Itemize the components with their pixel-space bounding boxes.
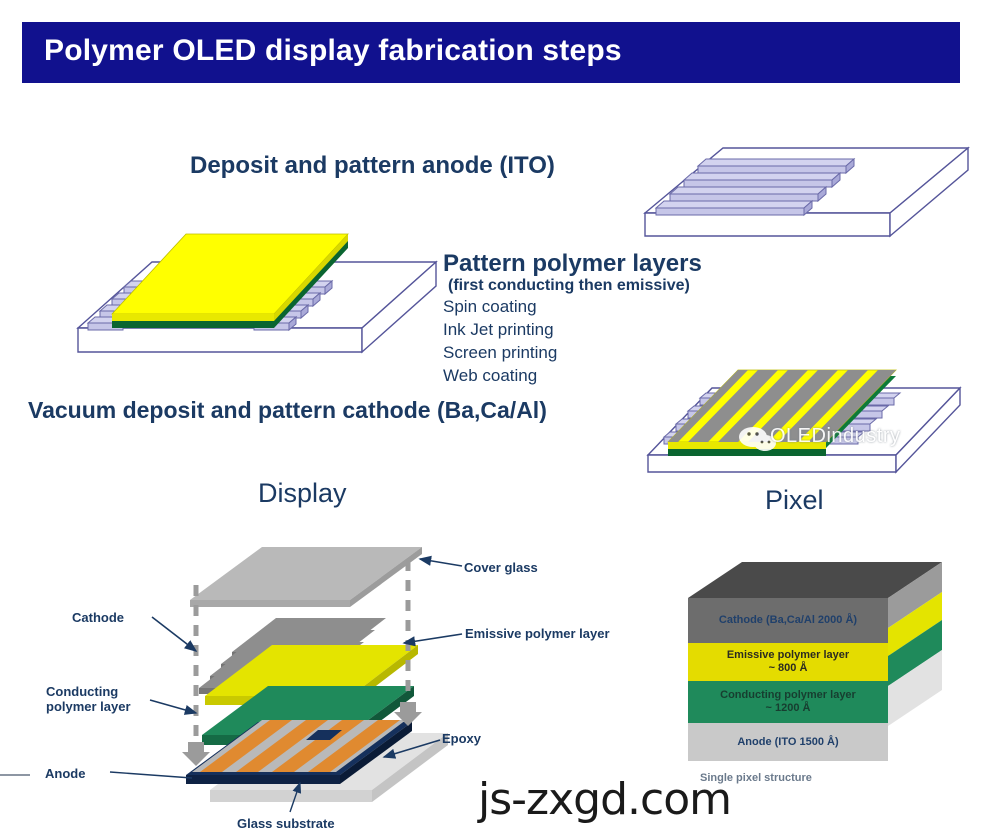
callout-cover-glass: Cover glass [464, 560, 538, 575]
method-web-coating: Web coating [443, 366, 537, 386]
title-bar: Polymer OLED display fabrication steps [22, 22, 960, 83]
pixel-layer-conducting-line2: ~ 1200 Å [688, 702, 888, 715]
section-label-display: Display [258, 478, 347, 509]
polymer-coated-substrate-illustration [78, 234, 436, 352]
watermark-brand: OLEDindustry [770, 425, 901, 448]
callout-conducting-polymer-layer: Conducting polymer layer [46, 684, 131, 714]
method-spin-coating: Spin coating [443, 297, 537, 317]
callout-epoxy: Epoxy [442, 731, 481, 746]
pixel-layer-conducting-line1: Conducting polymer layer [688, 689, 888, 702]
callout-cathode: Cathode [72, 610, 124, 625]
pixel-layer-emissive-line1: Emissive polymer layer [688, 649, 888, 662]
method-screen-printing: Screen printing [443, 343, 557, 363]
page-title: Polymer OLED display fabrication steps [44, 34, 622, 68]
callout-conducting-line2: polymer layer [46, 699, 131, 714]
step3-heading: Vacuum deposit and pattern cathode (Ba,C… [28, 397, 547, 424]
pixel-layer-anode-label: Anode (ITO 1500 Å) [688, 736, 888, 749]
ito-substrate-illustration [645, 148, 968, 236]
watermark-site: js-zxgd.com [478, 774, 731, 825]
callout-conducting-line1: Conducting [46, 684, 131, 699]
pixel-layer-conducting-label: Conducting polymer layer ~ 1200 Å [688, 689, 888, 715]
pixel-layer-cathode: Cathode (Ba,Ca/Al 2000 Å) [688, 598, 888, 643]
pixel-layer-emissive-line2: ~ 800 Å [688, 662, 888, 675]
slide-canvas: Polymer OLED display fabrication steps [0, 0, 984, 838]
step1-heading: Deposit and pattern anode (ITO) [190, 152, 555, 180]
pixel-layer-emissive-label: Emissive polymer layer ~ 800 Å [688, 649, 888, 675]
cathode-patterned-device-illustration [648, 370, 960, 472]
pixel-layer-emissive: Emissive polymer layer ~ 800 Å [688, 643, 888, 681]
single-pixel-stack: Cathode (Ba,Ca/Al 2000 Å) Emissive polym… [688, 576, 888, 761]
pixel-layer-conducting: Conducting polymer layer ~ 1200 Å [688, 681, 888, 723]
pixel-layer-cathode-label: Cathode (Ba,Ca/Al 2000 Å) [688, 614, 888, 627]
step2-subheading: (first conducting then emissive) [448, 277, 690, 295]
section-label-pixel: Pixel [765, 485, 824, 516]
callout-anode: Anode [45, 766, 85, 781]
pixel-layer-anode: Anode (ITO 1500 Å) [688, 723, 888, 761]
callout-glass-substrate: Glass substrate [237, 816, 335, 831]
method-ink-jet-printing: Ink Jet printing [443, 320, 554, 340]
pixel-layer-cathode-line1: Cathode (Ba,Ca/Al 2000 Å) [688, 614, 888, 627]
pixel-layer-anode-line1: Anode (ITO 1500 Å) [688, 736, 888, 749]
step2-heading: Pattern polymer layers [443, 250, 702, 278]
callout-emissive-polymer-layer: Emissive polymer layer [465, 626, 610, 641]
